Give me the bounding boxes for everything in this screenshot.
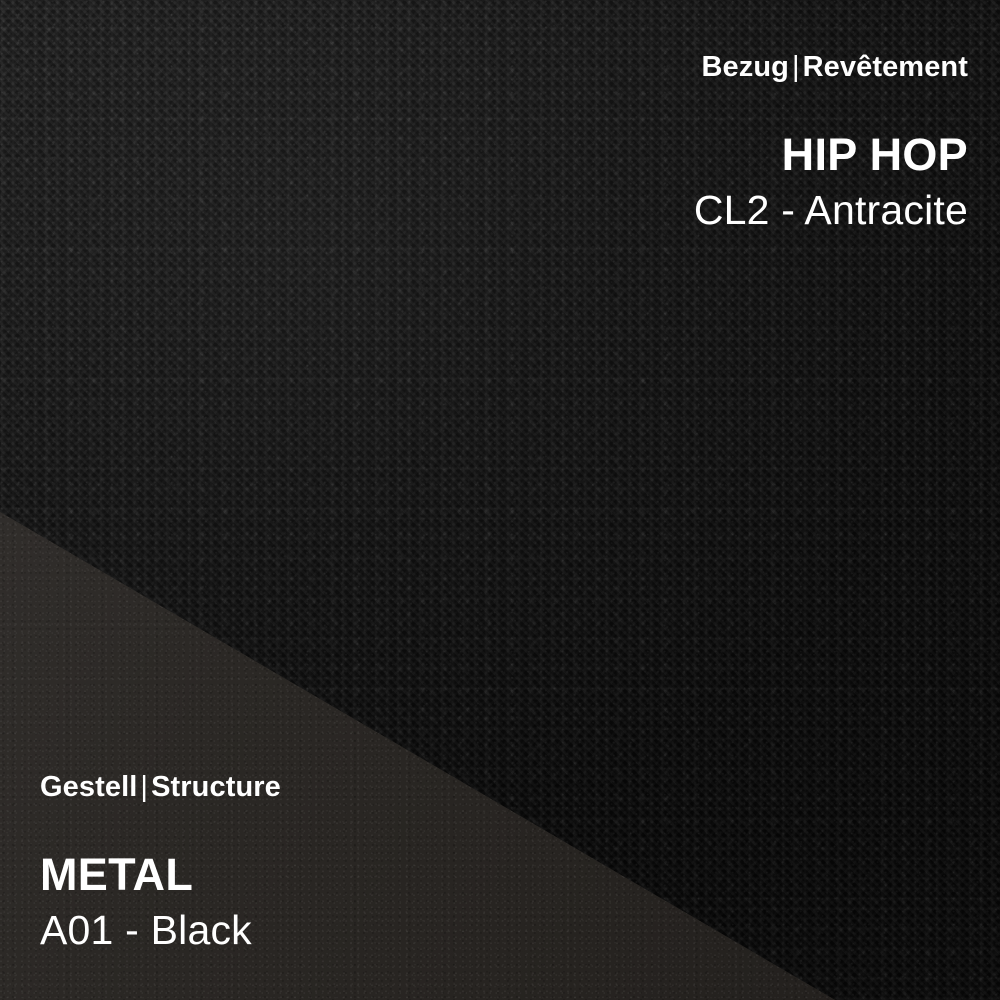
upholstery-name: HIP HOP [694, 131, 968, 180]
upholstery-category-line: Bezug|Revêtement [694, 52, 968, 83]
frame-category-fr: Structure [151, 771, 281, 803]
frame-code: A01 - Black [40, 908, 281, 952]
frame-label-block: Gestell|Structure METAL A01 - Black [40, 772, 281, 952]
frame-category-line: Gestell|Structure [40, 772, 281, 803]
frame-name: METAL [40, 851, 281, 900]
upholstery-code: CL2 - Antracite [694, 188, 968, 232]
upholstery-label-block: Bezug|Revêtement HIP HOP CL2 - Antracite [694, 52, 968, 232]
upholstery-category-de: Bezug [701, 51, 789, 83]
frame-category-de: Gestell [40, 771, 137, 803]
upholstery-category-fr: Revêtement [803, 51, 968, 83]
frame-category-separator: | [137, 771, 151, 803]
material-swatch-card: Bezug|Revêtement HIP HOP CL2 - Antracite… [0, 0, 1000, 1000]
upholstery-category-separator: | [789, 51, 803, 83]
